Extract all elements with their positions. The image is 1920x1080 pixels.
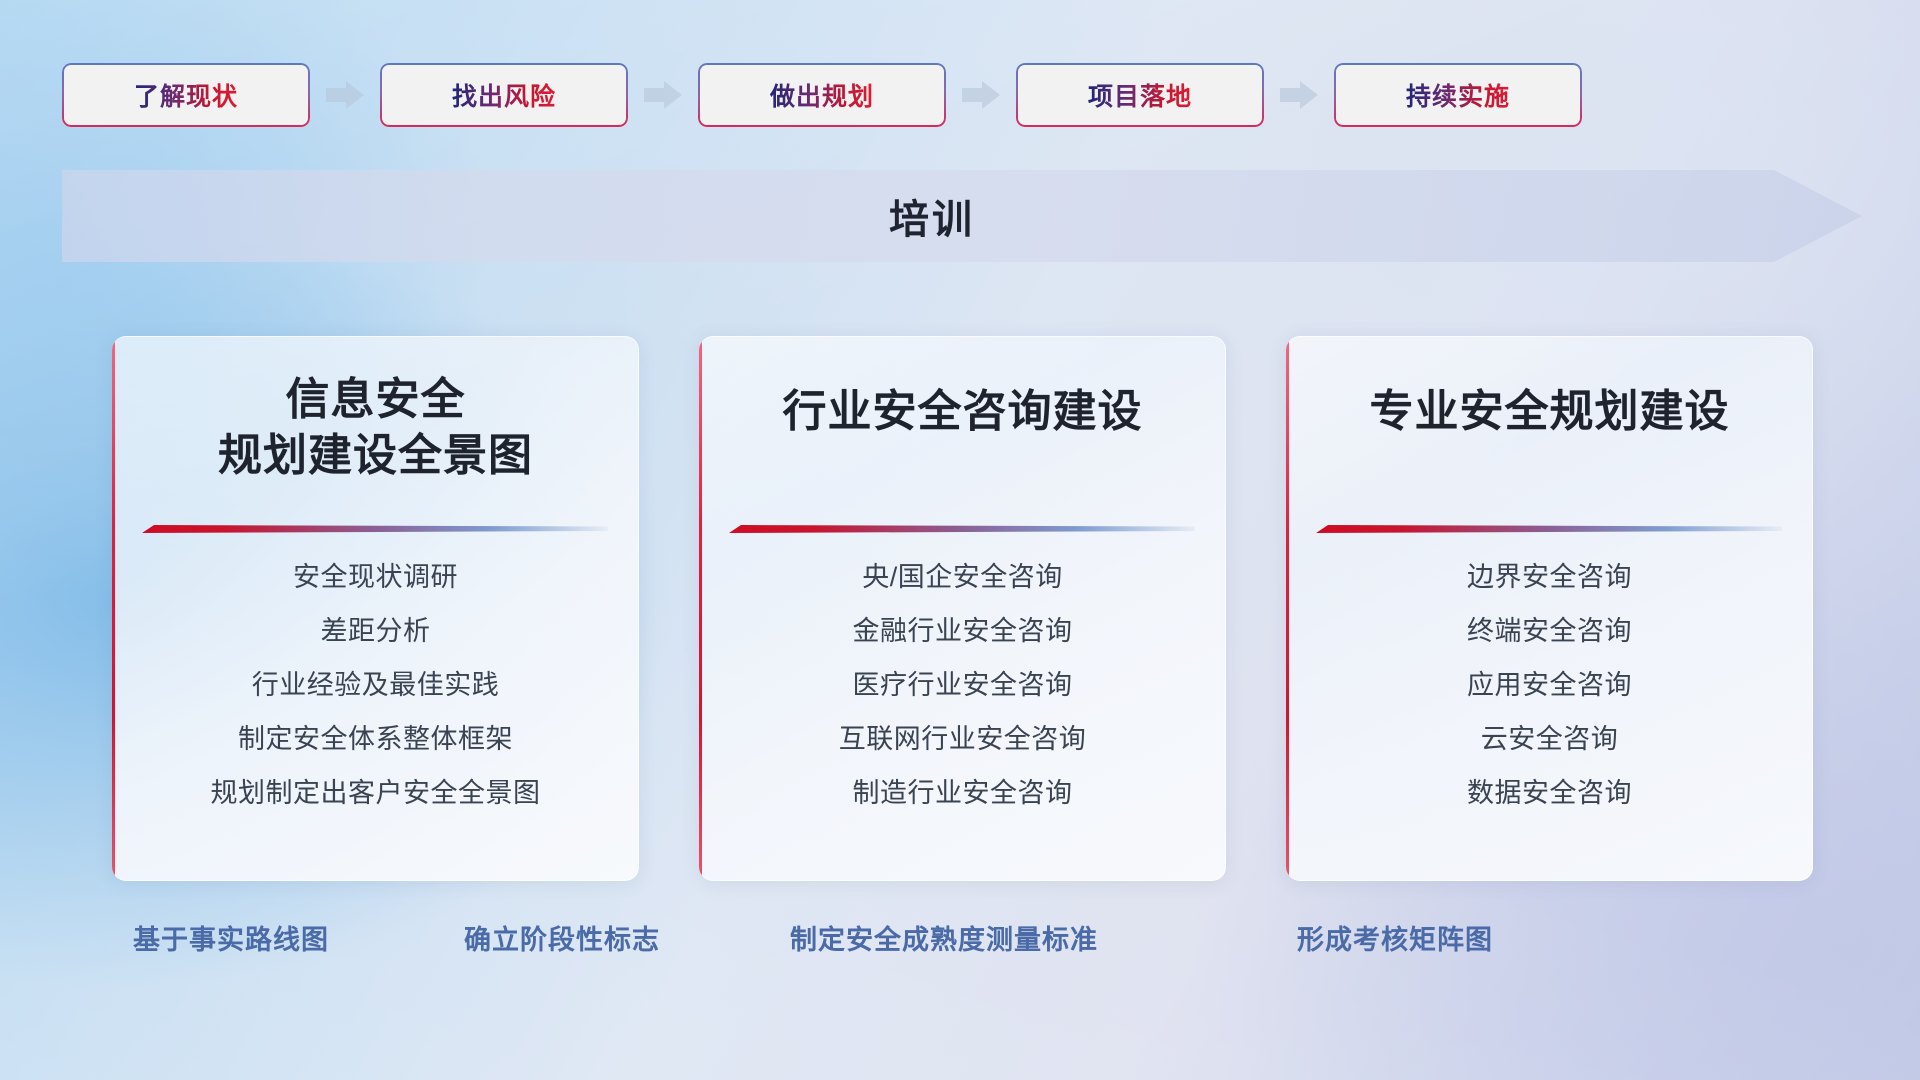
process-step-label: 了解现状 — [134, 77, 238, 113]
process-step-4[interactable]: 项目落地 — [1016, 63, 1264, 127]
list-item: 终端安全咨询 — [1286, 618, 1813, 645]
card-professional-security-planning[interactable]: 专业安全规划建设 边界安 — [1286, 336, 1813, 881]
list-item: 互联网行业安全咨询 — [699, 726, 1226, 753]
training-banner: 培训 — [62, 170, 1862, 262]
card-title-line: 规划建设全景图 — [130, 428, 621, 484]
arrow-right-icon — [326, 80, 364, 110]
process-step-3[interactable]: 做出规划 — [698, 63, 946, 127]
list-item: 差距分析 — [112, 618, 639, 645]
list-item: 行业经验及最佳实践 — [112, 672, 639, 699]
card-title-line: 信息安全 — [130, 372, 621, 428]
process-step-2[interactable]: 找出风险 — [380, 63, 628, 127]
list-item: 应用安全咨询 — [1286, 672, 1813, 699]
card-divider — [1316, 521, 1782, 531]
process-step-label: 找出风险 — [452, 77, 556, 113]
footnote-row: 基于事实路线图 确立阶段性标志 制定安全成熟度测量标准 形成考核矩阵图 — [0, 918, 1920, 962]
process-step-label: 项目落地 — [1088, 77, 1192, 113]
card-divider — [729, 521, 1195, 531]
card-title-line: 专业安全规划建设 — [1304, 384, 1795, 440]
list-item: 规划制定出客户安全全景图 — [112, 780, 639, 807]
process-step-label: 持续实施 — [1406, 77, 1510, 113]
card-item-list: 央/国企安全咨询 金融行业安全咨询 医疗行业安全咨询 互联网行业安全咨询 制造行… — [699, 564, 1226, 807]
list-item: 金融行业安全咨询 — [699, 618, 1226, 645]
arrow-right-icon — [1280, 80, 1318, 110]
process-step-label: 做出规划 — [770, 77, 874, 113]
process-step-1[interactable]: 了解现状 — [62, 63, 310, 127]
card-industry-security-consulting[interactable]: 行业安全咨询建设 央/国 — [699, 336, 1226, 881]
arrow-right-icon — [644, 80, 682, 110]
footnote-label: 基于事实路线图 — [133, 918, 329, 957]
list-item: 数据安全咨询 — [1286, 780, 1813, 807]
list-item: 制造行业安全咨询 — [699, 780, 1226, 807]
card-divider — [142, 521, 608, 531]
card-title-line: 行业安全咨询建设 — [717, 384, 1208, 440]
list-item: 央/国企安全咨询 — [699, 564, 1226, 591]
process-step-5[interactable]: 持续实施 — [1334, 63, 1582, 127]
list-item: 医疗行业安全咨询 — [699, 672, 1226, 699]
list-item: 安全现状调研 — [112, 564, 639, 591]
banner-title: 培训 — [62, 170, 1862, 262]
footnote-label: 制定安全成熟度测量标准 — [790, 918, 1098, 957]
footnote-label: 形成考核矩阵图 — [1297, 918, 1493, 957]
card-item-list: 边界安全咨询 终端安全咨询 应用安全咨询 云安全咨询 数据安全咨询 — [1286, 564, 1813, 807]
list-item: 制定安全体系整体框架 — [112, 726, 639, 753]
card-information-security-blueprint[interactable]: 信息安全 规划建设全景图 — [112, 336, 639, 881]
list-item: 云安全咨询 — [1286, 726, 1813, 753]
process-step-row: 了解现状 找出风险 做出规划 项目落地 — [62, 62, 1859, 128]
card-title: 行业安全咨询建设 — [699, 384, 1226, 440]
slide-stage: 了解现状 找出风险 做出规划 项目落地 — [0, 0, 1920, 1080]
list-item: 边界安全咨询 — [1286, 564, 1813, 591]
card-item-list: 安全现状调研 差距分析 行业经验及最佳实践 制定安全体系整体框架 规划制定出客户… — [112, 564, 639, 807]
footnote-label: 确立阶段性标志 — [464, 918, 660, 957]
arrow-right-icon — [962, 80, 1000, 110]
card-title: 专业安全规划建设 — [1286, 384, 1813, 440]
card-title: 信息安全 规划建设全景图 — [112, 372, 639, 485]
card-row: 信息安全 规划建设全景图 — [112, 336, 1812, 881]
